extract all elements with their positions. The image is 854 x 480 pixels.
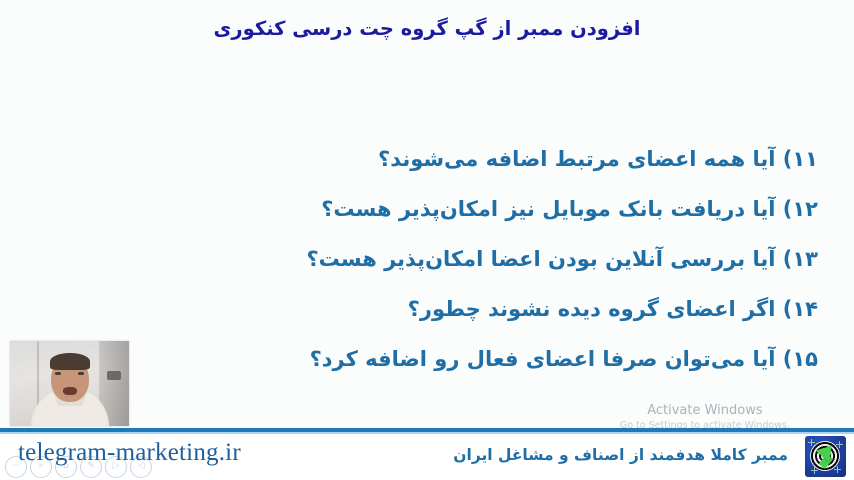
- question-item-13: ۱۳) آیا بررسی آنلاین بودن اعضا امکان‌پذی…: [28, 234, 818, 284]
- presentation-slide: افزودن ممبر از گپ گروه چت درسی کنکوری ۱۱…: [0, 0, 854, 480]
- question-item-11: ۱۱) آیا همه اعضای مرتبط اضافه می‌شوند؟: [28, 134, 818, 184]
- question-item-15: ۱۵) آیا می‌توان صرفا اعضای فعال رو اضافه…: [28, 334, 818, 384]
- question-item-12: ۱۲) آیا دریافت بانک موبایل نیز امکان‌پذی…: [28, 184, 818, 234]
- slide-title: افزودن ممبر از گپ گروه چت درسی کنکوری: [0, 14, 854, 44]
- webcam-background-object: [107, 371, 121, 380]
- presenter-eye-right: [78, 372, 84, 375]
- presenter-webcam-overlay: [10, 341, 129, 426]
- question-item-14: ۱۴) اگر اعضای گروه دیده نشوند چطور؟: [28, 284, 818, 334]
- brand-logo: [805, 436, 846, 477]
- presenter-hair: [50, 353, 90, 370]
- presenter-mouth: [63, 387, 77, 395]
- site-name: telegram-marketing.ir: [18, 436, 241, 470]
- presenter-eye-left: [55, 372, 61, 375]
- question-list: ۱۱) آیا همه اعضای مرتبط اضافه می‌شوند؟ ۱…: [28, 134, 818, 384]
- footer-tagline: ممبر کاملا هدفمند از اصناف و مشاغل ایران: [453, 442, 788, 468]
- activation-title: Activate Windows: [620, 403, 790, 419]
